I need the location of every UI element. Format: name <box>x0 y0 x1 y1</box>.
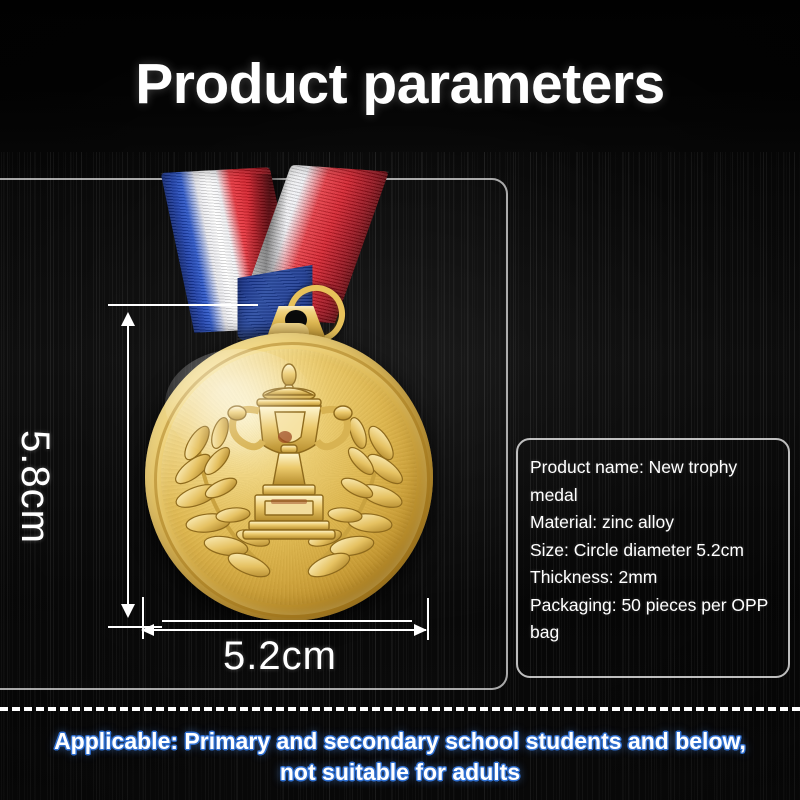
product-parameters-image: Product parameters <box>0 0 800 800</box>
width-dimension-shaft <box>145 629 426 631</box>
width-arrow-right <box>414 624 427 636</box>
height-arrow-top <box>121 312 135 326</box>
spec-line-product-name: Product name: New trophy <box>530 454 788 482</box>
height-dimension-label: 5.8cm <box>12 430 57 544</box>
applicable-age-notice: Applicable: Primary and secondary school… <box>0 726 800 788</box>
spec-line-material: Material: zinc alloy <box>530 509 788 537</box>
applicable-notice-line2: not suitable for adults <box>0 757 800 788</box>
width-extension-line-right <box>427 598 429 640</box>
footer-divider <box>0 707 800 711</box>
height-dimension-shaft <box>127 318 129 610</box>
trophy-red-accent <box>278 431 292 443</box>
height-arrow-bottom <box>121 604 135 618</box>
spec-line-product-name-cont: medal <box>530 482 788 510</box>
spec-line-packaging-cont: bag <box>530 619 788 647</box>
spec-line-thickness: Thickness: 2mm <box>530 564 788 592</box>
medal-disc <box>145 333 433 621</box>
spec-line-packaging: Packaging: 50 pieces per OPP <box>530 592 788 620</box>
height-extension-line-top <box>108 304 258 306</box>
width-extension-line-left <box>142 597 144 639</box>
spec-line-size: Size: Circle diameter 5.2cm <box>530 537 788 565</box>
width-dimension-label: 5.2cm <box>160 634 400 679</box>
specification-panel: Product name: New trophy medal Material:… <box>516 438 790 678</box>
width-upper-reference-line <box>162 620 412 622</box>
medal-relief-artwork <box>145 333 433 621</box>
medal-product-photo <box>145 160 445 630</box>
base-red-accent <box>271 499 307 504</box>
applicable-notice-line1: Applicable: Primary and secondary school… <box>0 726 800 757</box>
page-title: Product parameters <box>0 56 800 113</box>
